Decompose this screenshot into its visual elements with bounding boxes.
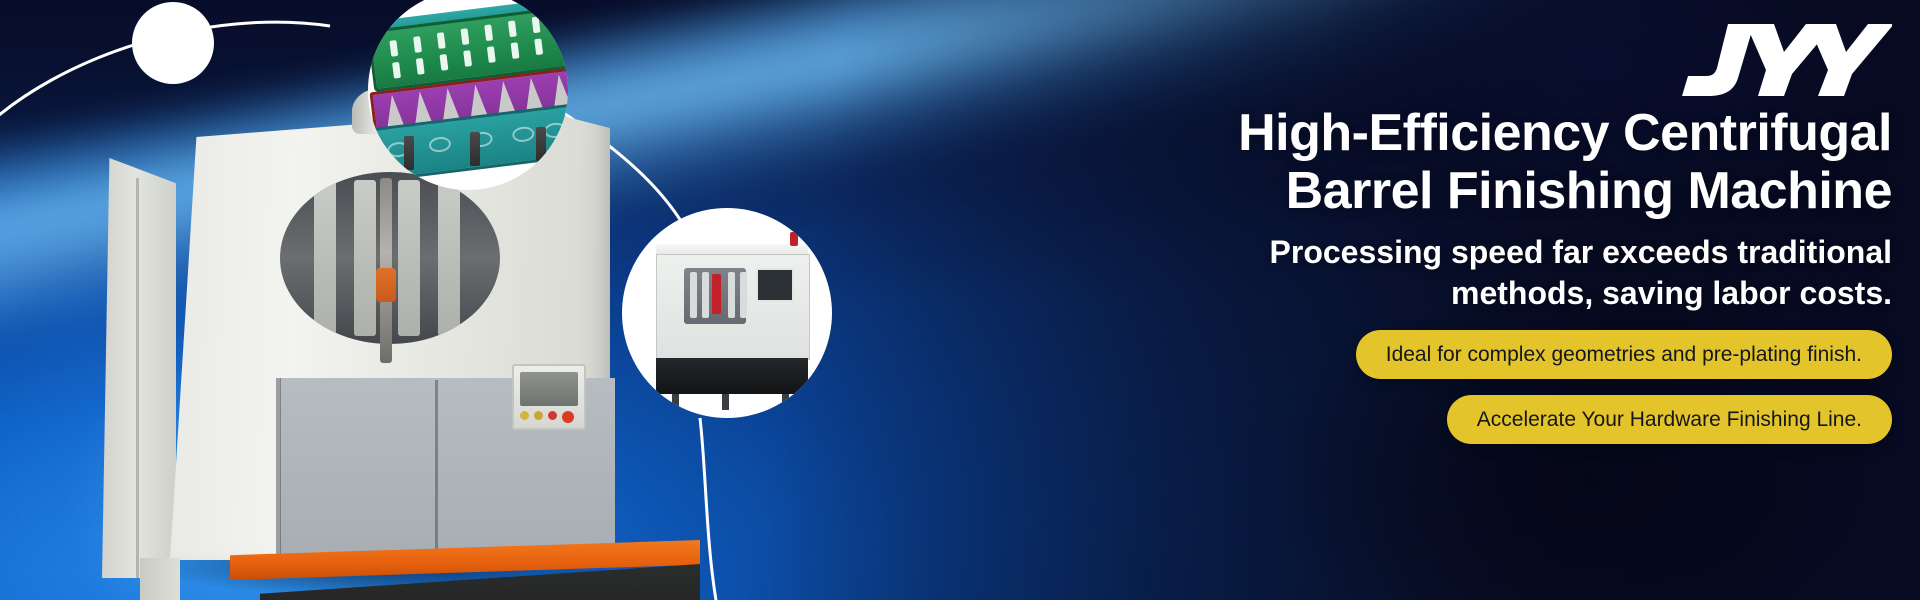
- page-title: High-Efficiency Centrifugal Barrel Finis…: [812, 104, 1892, 220]
- machine-door-seam: [435, 380, 438, 560]
- machine-door-edge: [276, 378, 281, 574]
- jyy-logo[interactable]: [1642, 18, 1892, 96]
- badge-complex-geometries[interactable]: Ideal for complex geometries and pre-pla…: [1356, 330, 1892, 379]
- compact-machine-photo: [630, 216, 830, 416]
- inset-fixture-circle: [368, 0, 568, 190]
- barrel-fixture-render: [368, 0, 568, 190]
- mini-machine-fixture: [712, 274, 721, 314]
- machine-left-panel: [140, 558, 180, 600]
- fixture-latch: [536, 127, 546, 161]
- machine-hmi-buttons: [520, 411, 574, 423]
- mini-machine-signal-lamp: [790, 232, 798, 246]
- badge-list: Ideal for complex geometries and pre-pla…: [812, 330, 1892, 444]
- mini-machine-base: [656, 358, 808, 394]
- machine-hmi-screen: [520, 372, 578, 406]
- promo-banner: High-Efficiency Centrifugal Barrel Finis…: [0, 0, 1920, 600]
- headline-line-2: Barrel Finishing Machine: [812, 162, 1892, 220]
- page-subtitle: Processing speed far exceeds traditional…: [812, 232, 1892, 314]
- machine-hook: [376, 268, 396, 302]
- subhead-line-1: Processing speed far exceeds traditional: [812, 232, 1892, 273]
- fixture-latch: [404, 136, 414, 170]
- subhead-line-2: methods, saving labor costs.: [812, 273, 1892, 314]
- headline-line-1: High-Efficiency Centrifugal: [812, 104, 1892, 162]
- machine-side-tower: [102, 158, 176, 578]
- fixture-latch: [470, 132, 480, 166]
- machine-tower-seam: [136, 178, 139, 578]
- badge-accelerate-line[interactable]: Accelerate Your Hardware Finishing Line.: [1447, 395, 1892, 444]
- inset-machine-circle: [622, 208, 832, 418]
- machine-control-panel: [512, 364, 586, 430]
- callout-dot: [132, 2, 214, 84]
- mini-machine-hmi: [756, 268, 794, 302]
